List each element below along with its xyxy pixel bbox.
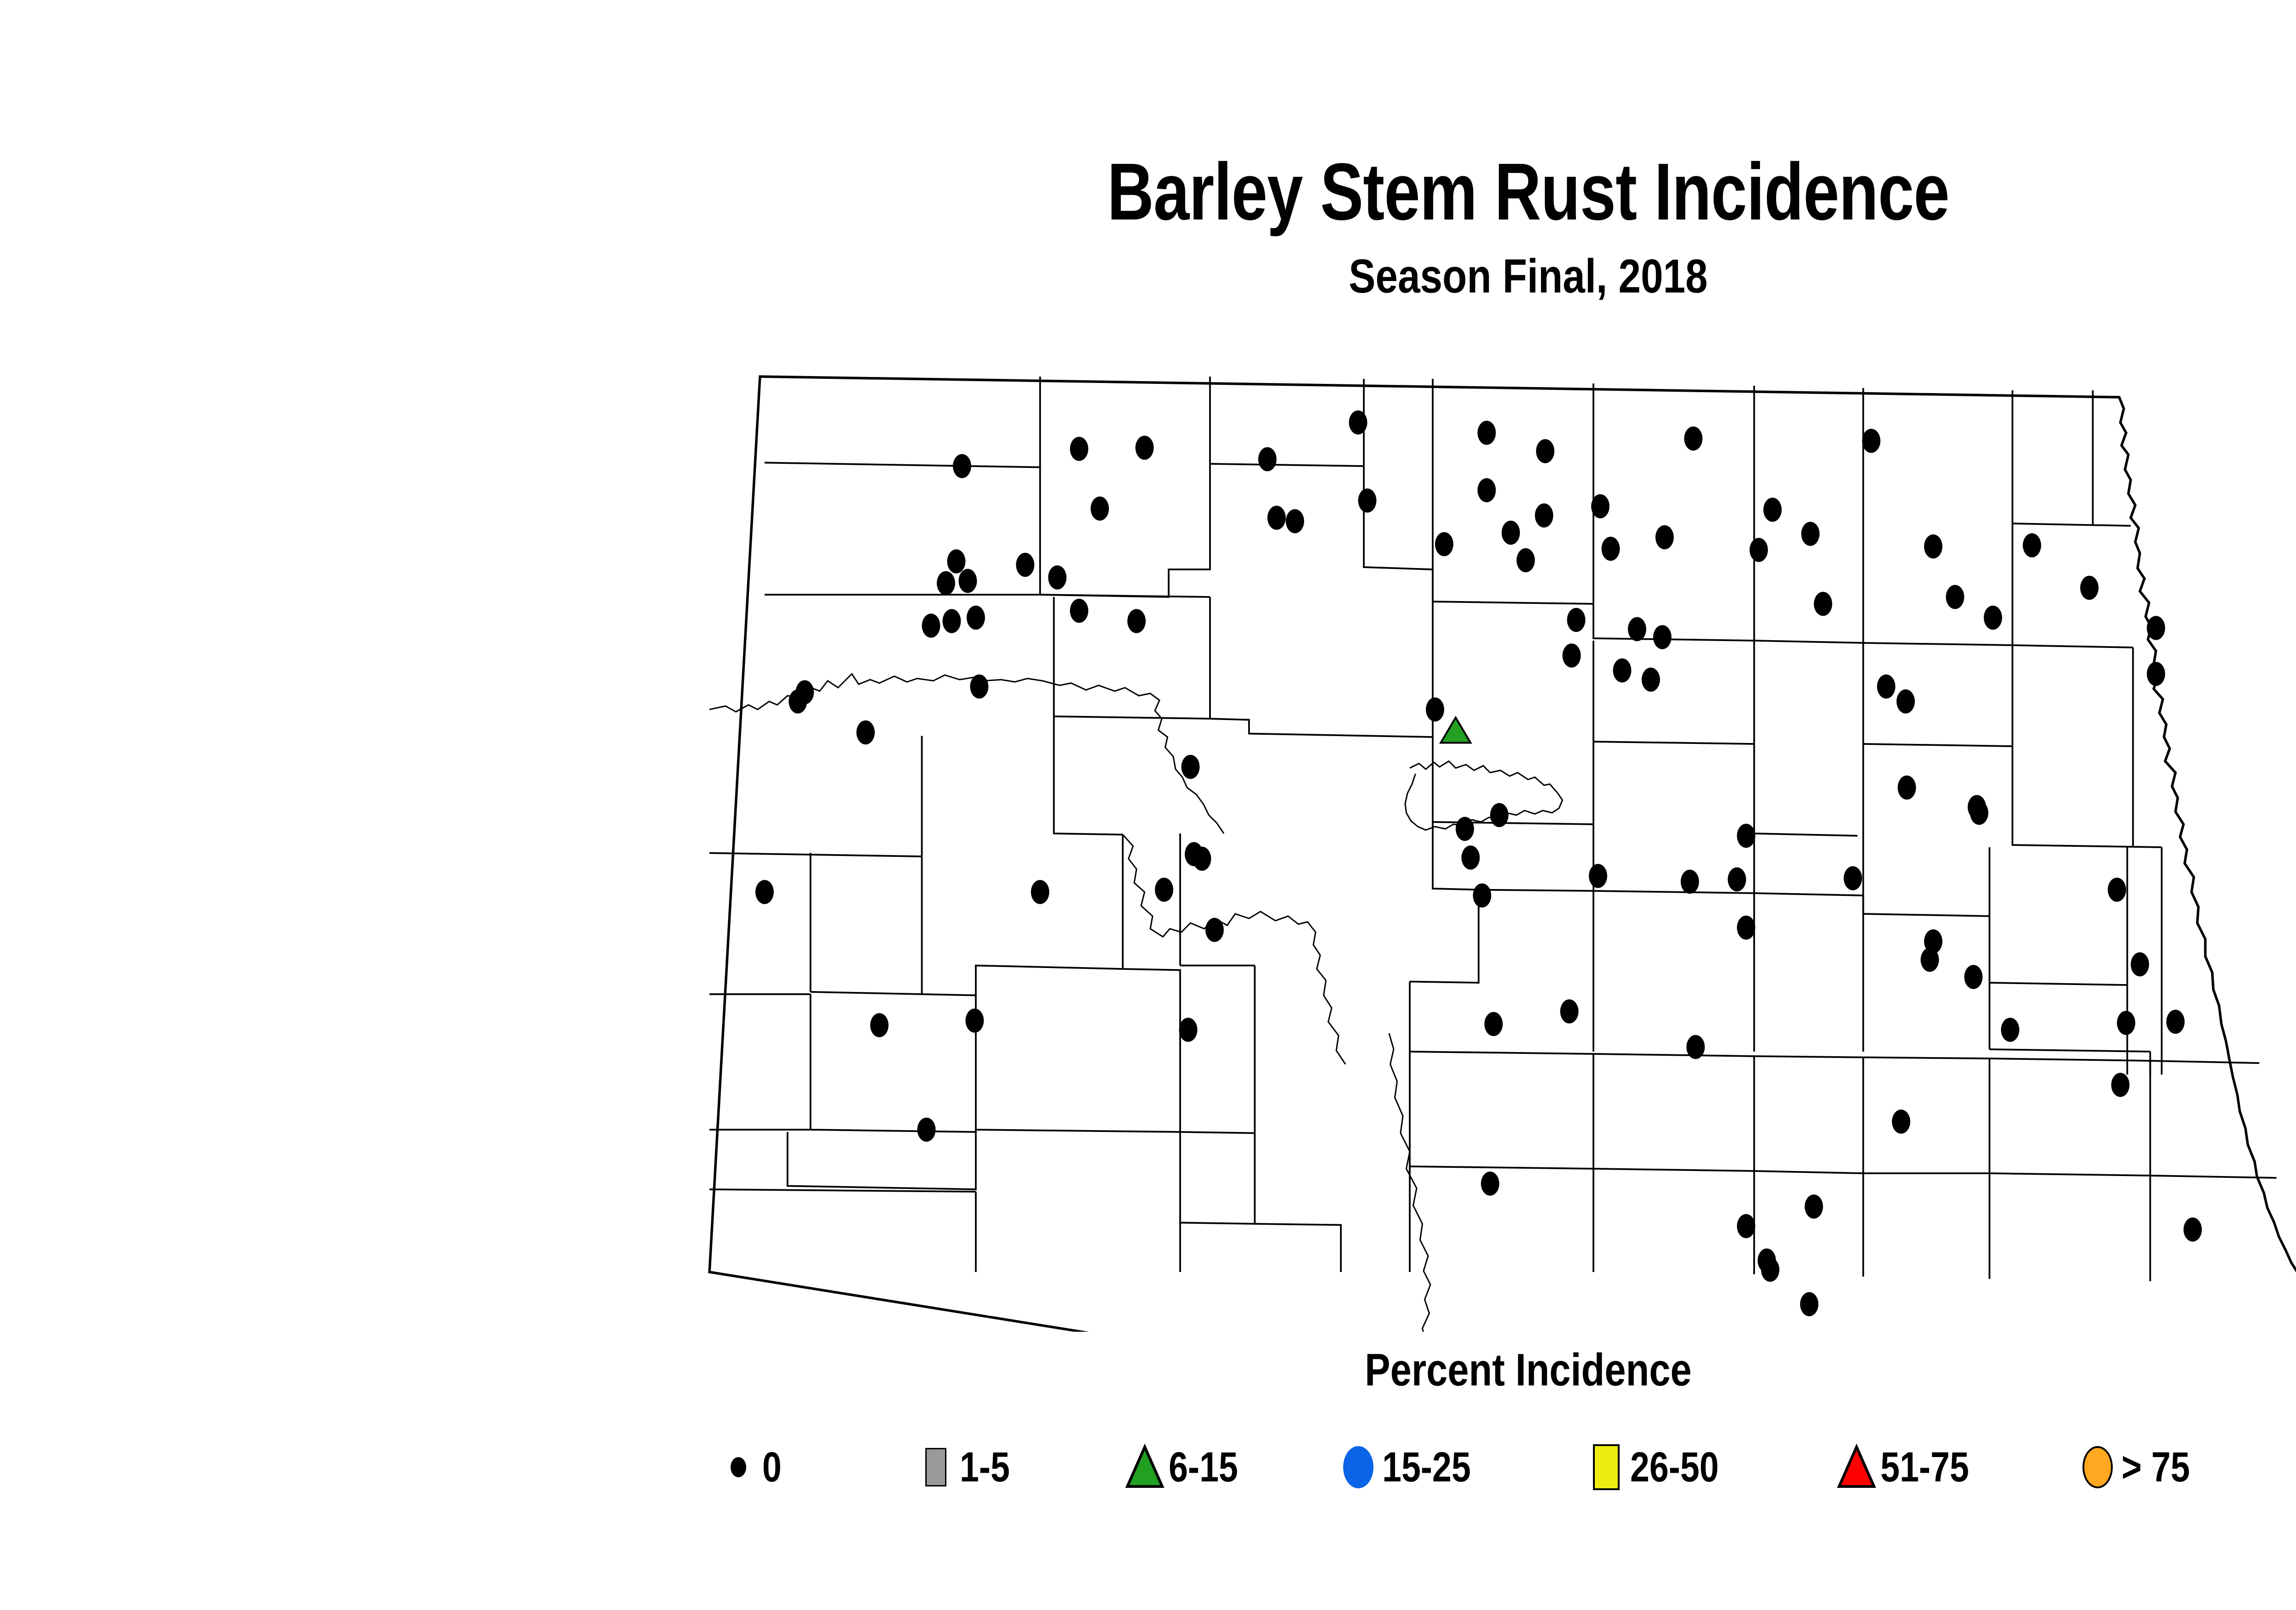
county-line-s2 bbox=[1593, 1054, 1754, 1056]
county-line-s13 bbox=[1410, 1166, 1593, 1169]
map-point-0 bbox=[1435, 532, 1453, 557]
county-line-m13 bbox=[1863, 744, 2013, 746]
county-line-c15 bbox=[1180, 966, 1255, 1133]
county-line-n8 bbox=[1433, 383, 1593, 604]
map-point-0 bbox=[917, 1118, 936, 1142]
legend-item-1-5[interactable]: 1-5 bbox=[914, 1428, 1021, 1506]
map-point-0 bbox=[1801, 522, 1820, 546]
county-line-s17 bbox=[1990, 1173, 2150, 1176]
county-line-s6 bbox=[2150, 1061, 2260, 1063]
county-line-c23 bbox=[1479, 890, 1593, 891]
county-line-s4 bbox=[1863, 1058, 1990, 1059]
map-point-0 bbox=[1761, 1258, 1779, 1282]
map-point-0 bbox=[1687, 1035, 1705, 1059]
map-point-0 bbox=[1560, 999, 1579, 1024]
map-point-0 bbox=[1862, 429, 1880, 453]
map-point-0 bbox=[1070, 599, 1088, 623]
legend-symbol-triangle-icon bbox=[1835, 1437, 1879, 1497]
map-point-0 bbox=[1964, 965, 1983, 989]
map-point-0 bbox=[1970, 801, 1988, 825]
map-point-0 bbox=[1286, 509, 1304, 534]
map-point-0 bbox=[1136, 436, 1154, 460]
map-point-0 bbox=[1655, 525, 1674, 550]
county-line-m11 bbox=[1754, 744, 1857, 836]
map-point-0 bbox=[1502, 521, 1520, 545]
county-line-m15 bbox=[2013, 746, 2162, 847]
map-point-0 bbox=[1155, 878, 1173, 902]
map-point-0 bbox=[943, 609, 961, 633]
map-point-0 bbox=[1921, 948, 1939, 972]
map-point-0 bbox=[2001, 1018, 2020, 1042]
map-point-0 bbox=[1628, 617, 1646, 642]
county-line-s3 bbox=[1754, 1056, 1863, 1058]
legend-item-75[interactable]: > 75 bbox=[2076, 1428, 2205, 1506]
map-point-0 bbox=[1070, 437, 1088, 461]
missouri-river-north bbox=[709, 674, 1224, 834]
map-point-0 bbox=[1048, 565, 1067, 590]
legend-symbol-circle-icon bbox=[2076, 1437, 2120, 1497]
map-point-0 bbox=[947, 549, 966, 574]
map-point-0 bbox=[1485, 1012, 1503, 1036]
county-line-n7 bbox=[1364, 379, 1433, 569]
map-point-0 bbox=[1800, 1292, 1818, 1317]
map-point-0 bbox=[1127, 609, 1146, 633]
legend-symbol-dot-icon bbox=[716, 1437, 760, 1497]
title-block: Barley Stem Rust Incidence Season Final,… bbox=[0, 152, 2296, 300]
map-point-0 bbox=[1426, 698, 1444, 722]
map-point-0 bbox=[2167, 1010, 2185, 1034]
map-point-0 bbox=[1589, 864, 1607, 888]
map-point-0 bbox=[2023, 533, 2041, 557]
map-point-0 bbox=[1473, 884, 1491, 908]
map-point-0 bbox=[1898, 776, 1916, 800]
map-point-0 bbox=[1481, 1171, 1499, 1196]
map-point-0 bbox=[2131, 952, 2149, 977]
county-line-m7 bbox=[1433, 737, 1593, 824]
map-point-0 bbox=[1642, 668, 1660, 692]
legend-label: > 75 bbox=[2122, 1443, 2190, 1492]
county-line-c32 bbox=[1990, 983, 2127, 985]
map-point-0 bbox=[1737, 1214, 1756, 1238]
map-point-0 bbox=[1602, 537, 1620, 561]
map-point-0 bbox=[1456, 817, 1474, 841]
county-line-n9 bbox=[1593, 386, 1754, 641]
legend: 01-56-1515-2526-5051-75> 75 bbox=[716, 1428, 2296, 1511]
county-outlines bbox=[709, 377, 2296, 1332]
map-point-6-15 bbox=[1441, 718, 1471, 743]
legend-item-26-50[interactable]: 26-50 bbox=[1584, 1428, 1738, 1506]
county-line-m2 bbox=[1040, 595, 1210, 597]
county-line-c1 bbox=[709, 853, 922, 857]
map-point-0 bbox=[953, 454, 971, 478]
map-point-0 bbox=[1737, 824, 1756, 848]
county-line-c10 bbox=[788, 1132, 976, 1189]
county-line-s14 bbox=[1593, 1169, 1754, 1171]
map-svg bbox=[675, 340, 2296, 1332]
devils-lake bbox=[1405, 761, 1563, 830]
county-line-c7 bbox=[810, 996, 976, 1132]
map-point-0 bbox=[1653, 625, 1671, 649]
map-point-0 bbox=[1681, 870, 1699, 894]
map-data-points bbox=[755, 411, 2202, 1317]
legend-label: 1-5 bbox=[960, 1443, 1010, 1492]
county-line-c14 bbox=[976, 969, 1180, 1132]
map-point-0 bbox=[1737, 916, 1756, 940]
county-line-n12 bbox=[2013, 645, 2133, 647]
map-point-0 bbox=[922, 614, 940, 638]
legend-symbol-circle-icon bbox=[1336, 1437, 1380, 1497]
map-point-0 bbox=[1946, 585, 1964, 609]
county-line-c35 bbox=[1990, 1049, 2150, 1052]
map-point-0 bbox=[970, 675, 989, 699]
map-point-0 bbox=[755, 880, 774, 904]
map-point-0 bbox=[1490, 803, 1508, 828]
county-line-n5 bbox=[1210, 464, 1364, 466]
map-point-0 bbox=[1684, 427, 1703, 451]
map-point-0 bbox=[1750, 538, 1768, 562]
map-point-0 bbox=[1358, 489, 1377, 513]
legend-item-51-75[interactable]: 51-75 bbox=[1835, 1428, 1988, 1506]
map-point-0 bbox=[1536, 439, 1554, 463]
legend-label: 26-50 bbox=[1630, 1443, 1719, 1492]
map-point-0 bbox=[2147, 616, 2165, 640]
legend-item-0[interactable]: 0 bbox=[716, 1428, 786, 1506]
map-point-0 bbox=[1016, 553, 1035, 577]
county-line-s5 bbox=[1990, 1058, 2150, 1061]
county-line-c27 bbox=[1754, 893, 1863, 895]
county-line-c3 bbox=[810, 856, 922, 994]
legend-label: 15-25 bbox=[1382, 1443, 1471, 1492]
map-point-0 bbox=[1091, 496, 1109, 521]
county-line-c25 bbox=[1593, 891, 1754, 893]
county-line-m5 bbox=[1054, 716, 1123, 835]
map-point-0 bbox=[2111, 1073, 2130, 1097]
map-point-0 bbox=[870, 1013, 889, 1037]
legend-symbol-square-icon bbox=[914, 1437, 958, 1497]
map-point-0 bbox=[2147, 662, 2165, 686]
legend-title: Percent Incidence bbox=[244, 1344, 2296, 1396]
map-point-0 bbox=[796, 680, 814, 704]
north-dakota-map bbox=[675, 340, 2296, 1332]
map-point-0 bbox=[959, 569, 977, 593]
page-title: Barley Stem Rust Incidence bbox=[306, 152, 2296, 232]
map-point-0 bbox=[1478, 421, 1496, 445]
legend-symbol-square-icon bbox=[1584, 1437, 1628, 1497]
legend-item-6-15[interactable]: 6-15 bbox=[1123, 1428, 1253, 1506]
county-line-n1 bbox=[765, 463, 1040, 467]
missouri-river-central bbox=[1123, 835, 1345, 1064]
county-line-s1 bbox=[1410, 1052, 1593, 1054]
county-line-c18 bbox=[1180, 1132, 1255, 1224]
missouri-river-south bbox=[1176, 1033, 1430, 1332]
map-point-0 bbox=[1984, 606, 2002, 630]
map-point-0 bbox=[1182, 755, 1200, 779]
map-point-0 bbox=[2117, 1011, 2135, 1035]
figure-root: Barley Stem Rust Incidence Season Final,… bbox=[0, 0, 2296, 1610]
map-point-0 bbox=[1179, 1018, 1198, 1042]
map-point-0 bbox=[1567, 608, 1586, 632]
county-line-n13 bbox=[2013, 524, 2131, 526]
map-point-0 bbox=[1535, 503, 1553, 528]
map-point-0 bbox=[1267, 506, 1286, 530]
map-point-0 bbox=[2183, 1217, 2202, 1242]
county-line-c11 bbox=[709, 1189, 976, 1192]
map-point-0 bbox=[1892, 1109, 1910, 1134]
map-point-0 bbox=[1896, 689, 1915, 714]
legend-label: 51-75 bbox=[1880, 1443, 1969, 1492]
map-point-0 bbox=[1877, 675, 1896, 699]
map-point-0 bbox=[966, 1008, 984, 1033]
map-point-0 bbox=[1031, 880, 1049, 904]
map-point-0 bbox=[1462, 845, 1480, 870]
map-point-0 bbox=[1814, 592, 1832, 616]
county-line-c6 bbox=[922, 966, 1123, 996]
county-line-m3 bbox=[1210, 597, 1433, 737]
legend-label: 6-15 bbox=[1169, 1443, 1238, 1492]
legend-symbol-triangle-icon bbox=[1123, 1437, 1167, 1497]
map-point-0 bbox=[1763, 498, 1782, 522]
map-point-0 bbox=[2108, 878, 2126, 902]
county-line-c29 bbox=[1863, 895, 1990, 916]
county-line-s15 bbox=[1754, 1171, 1863, 1173]
map-point-0 bbox=[1205, 918, 1224, 942]
map-point-0 bbox=[1563, 643, 1581, 668]
map-point-0 bbox=[1613, 659, 1632, 683]
county-line-m9 bbox=[1593, 742, 1754, 744]
legend-item-15-25[interactable]: 15-25 bbox=[1336, 1428, 1490, 1506]
map-point-0 bbox=[1728, 867, 1746, 892]
map-point-0 bbox=[856, 721, 875, 745]
map-point-0 bbox=[1258, 447, 1277, 472]
map-point-0 bbox=[1591, 494, 1609, 518]
legend-label: 0 bbox=[762, 1443, 782, 1492]
map-point-0 bbox=[1805, 1194, 1823, 1219]
map-point-0 bbox=[1193, 847, 1211, 871]
map-point-0 bbox=[1924, 535, 1942, 559]
map-point-0 bbox=[967, 606, 985, 630]
page-subtitle: Season Final, 2018 bbox=[244, 253, 2296, 300]
map-point-0 bbox=[1517, 548, 1535, 573]
map-point-0 bbox=[1349, 411, 1367, 435]
county-line-c19 bbox=[1255, 1224, 1341, 1272]
map-point-0 bbox=[2080, 576, 2099, 600]
map-point-0 bbox=[937, 571, 955, 596]
map-point-0 bbox=[1844, 866, 1862, 890]
map-point-0 bbox=[1478, 478, 1496, 502]
